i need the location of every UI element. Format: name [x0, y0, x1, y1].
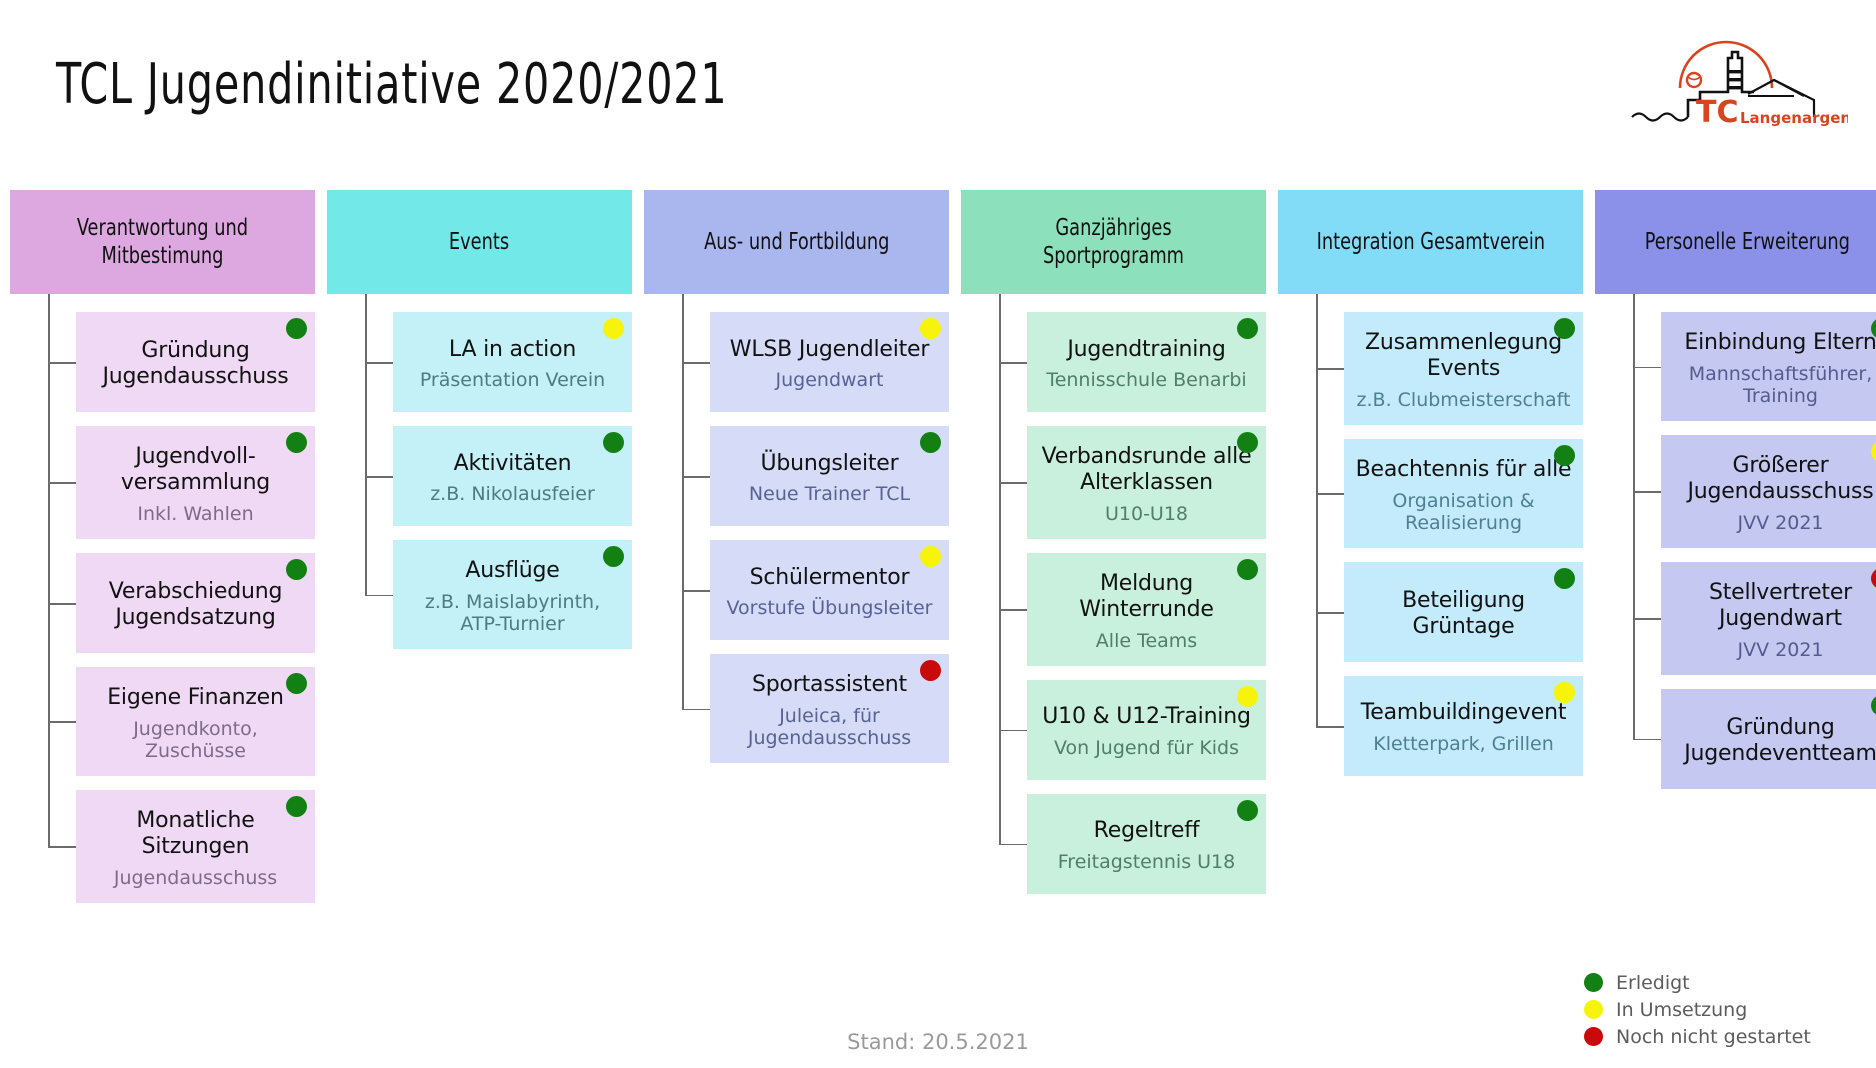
- column-header-label: Aus- und Fortbildung: [704, 228, 889, 256]
- card-subtitle: Kletterpark, Grillen: [1373, 733, 1554, 755]
- initiative-card[interactable]: SportassistentJuleica, für Jugendausschu…: [710, 654, 949, 763]
- connector-branch: [1316, 493, 1344, 495]
- column-cards-integration: Zusammenlegung Eventsz.B. Clubmeistersch…: [1344, 312, 1583, 776]
- status-dot-done-icon: [286, 318, 307, 339]
- initiative-card[interactable]: Gründung Jugendausschuss: [76, 312, 315, 412]
- column-header-ausbildung[interactable]: Aus- und Fortbildung: [644, 190, 949, 294]
- initiative-card[interactable]: LA in actionPräsentation Verein: [393, 312, 632, 412]
- initiative-card[interactable]: Ausflügez.B. Maislabyrinth, ATP-Turnier: [393, 540, 632, 649]
- column-header-personelle[interactable]: Personelle Erweiterung: [1595, 190, 1876, 294]
- connector-branch: [48, 603, 76, 605]
- connector-branch: [1316, 368, 1344, 370]
- club-logo: TC Langenargen e.V.: [1628, 18, 1848, 130]
- column-cards-sportprogramm: JugendtrainingTennisschule BenarbiVerban…: [1027, 312, 1266, 894]
- card-title: Beachtennis für alle: [1356, 457, 1572, 483]
- column-verantwortung: Verantwortung und MitbestimungGründung J…: [10, 190, 315, 903]
- initiative-card[interactable]: ÜbungsleiterNeue Trainer TCL: [710, 426, 949, 526]
- initiative-card[interactable]: Monatliche SitzungenJugendausschuss: [76, 790, 315, 903]
- column-cards-verantwortung: Gründung JugendausschussJugendvoll-versa…: [76, 312, 315, 903]
- footer-stand-date: Stand: 20.5.2021: [0, 1030, 1876, 1054]
- connector-branch: [1633, 491, 1661, 493]
- initiative-card[interactable]: RegeltreffFreitagstennis U18: [1027, 794, 1266, 894]
- card-title: U10 & U12-Training: [1042, 704, 1250, 730]
- status-dot-in_progress-icon: [1554, 682, 1575, 703]
- card-subtitle: Mannschaftsführer, Training: [1671, 363, 1876, 407]
- card-subtitle: z.B. Nikolausfeier: [430, 483, 595, 505]
- card-title: Übungsleiter: [761, 451, 899, 477]
- legend-label: Erledigt: [1616, 972, 1690, 994]
- column-header-sportprogramm[interactable]: Ganzjähriges Sportprogramm: [961, 190, 1266, 294]
- card-title: Eigene Finanzen: [107, 685, 284, 711]
- card-title: Gründung Jugendausschuss: [86, 338, 305, 390]
- card-subtitle: Von Jugend für Kids: [1054, 737, 1239, 759]
- status-dot-done-icon: [1554, 318, 1575, 339]
- column-sportprogramm: Ganzjähriges SportprogrammJugendtraining…: [961, 190, 1266, 894]
- status-dot-done-icon: [1554, 445, 1575, 466]
- status-dot-done-icon: [1237, 318, 1258, 339]
- card-subtitle: z.B. Maislabyrinth, ATP-Turnier: [403, 591, 622, 635]
- initiative-card[interactable]: Meldung WinterrundeAlle Teams: [1027, 553, 1266, 666]
- card-title: Gründung Jugendeventteam: [1671, 715, 1876, 767]
- connector-branch: [1633, 367, 1661, 369]
- initiative-card[interactable]: Gründung Jugendeventteam: [1661, 689, 1876, 789]
- card-subtitle: Jugendkonto, Zuschüsse: [86, 718, 305, 762]
- connector-trunk: [48, 294, 50, 846]
- initiative-card[interactable]: TeambuildingeventKletterpark, Grillen: [1344, 676, 1583, 776]
- initiative-card[interactable]: Einbindung ElternMannschaftsführer, Trai…: [1661, 312, 1876, 421]
- card-title: Beteiligung Grüntage: [1354, 588, 1573, 640]
- connector-branch: [48, 721, 76, 723]
- card-title: Jugendtraining: [1067, 337, 1225, 363]
- status-dot-done-icon: [1871, 695, 1876, 716]
- connector-branch: [999, 362, 1027, 364]
- status-dot-done-icon: [1237, 800, 1258, 821]
- legend-dot-in_progress-icon: [1584, 1000, 1603, 1019]
- status-dot-done-icon: [286, 796, 307, 817]
- initiative-card[interactable]: Zusammenlegung Eventsz.B. Clubmeistersch…: [1344, 312, 1583, 425]
- connector-trunk: [1316, 294, 1318, 726]
- connector-branch: [1316, 612, 1344, 614]
- page-header: TCL Jugendinitiative 2020/2021 TC Langen…: [0, 0, 1876, 190]
- card-subtitle: Vorstufe Übungsleiter: [727, 597, 933, 619]
- card-title: Ausflüge: [465, 558, 559, 584]
- card-title: Teambuildingevent: [1361, 700, 1567, 726]
- initiative-card[interactable]: Größerer JugendausschussJVV 2021: [1661, 435, 1876, 548]
- card-subtitle: Juleica, für Jugendausschuss: [720, 705, 939, 749]
- card-title: WLSB Jugendleiter: [730, 337, 929, 363]
- status-dot-in_progress-icon: [920, 318, 941, 339]
- status-dot-done-icon: [1237, 432, 1258, 453]
- card-title: Größerer Jugendausschuss: [1671, 453, 1876, 505]
- connector-branch: [365, 595, 393, 597]
- status-dot-not_started-icon: [920, 660, 941, 681]
- card-subtitle: Organisation & Realisierung: [1354, 490, 1573, 534]
- column-header-verantwortung[interactable]: Verantwortung und Mitbestimung: [10, 190, 315, 294]
- connector-branch: [1633, 618, 1661, 620]
- column-header-label: Events: [449, 228, 509, 256]
- card-title: Monatliche Sitzungen: [86, 808, 305, 860]
- connector-trunk: [682, 294, 684, 709]
- column-events: EventsLA in actionPräsentation VereinAkt…: [327, 190, 632, 649]
- initiative-card[interactable]: Stellvertreter JugendwartJVV 2021: [1661, 562, 1876, 675]
- card-subtitle: Alle Teams: [1096, 630, 1197, 652]
- card-title: Stellvertreter Jugendwart: [1671, 580, 1876, 632]
- card-subtitle: z.B. Clubmeisterschaft: [1357, 389, 1571, 411]
- connector-branch: [1633, 739, 1661, 741]
- card-subtitle: JVV 2021: [1738, 512, 1824, 534]
- status-dot-in_progress-icon: [603, 318, 624, 339]
- column-cards-events: LA in actionPräsentation VereinAktivität…: [393, 312, 632, 649]
- card-subtitle: U10-U18: [1105, 503, 1188, 525]
- column-header-label: Integration Gesamtverein: [1316, 228, 1544, 256]
- connector-branch: [999, 730, 1027, 732]
- connector-branch: [682, 362, 710, 364]
- connector-branch: [48, 846, 76, 848]
- legend-item-in_progress: In Umsetzung: [1584, 996, 1834, 1023]
- status-dot-done-icon: [286, 432, 307, 453]
- club-logo-graphic: TC Langenargen e.V.: [1628, 18, 1848, 130]
- initiative-card[interactable]: WLSB JugendleiterJugendwart: [710, 312, 949, 412]
- initiative-card[interactable]: Beteiligung Grüntage: [1344, 562, 1583, 662]
- connector-trunk: [1633, 294, 1635, 739]
- card-subtitle: Präsentation Verein: [420, 369, 605, 391]
- status-dot-done-icon: [1237, 559, 1258, 580]
- column-cards-personelle: Einbindung ElternMannschaftsführer, Trai…: [1661, 312, 1876, 789]
- initiative-card[interactable]: Eigene FinanzenJugendkonto, Zuschüsse: [76, 667, 315, 776]
- connector-trunk: [365, 294, 367, 595]
- initiative-card[interactable]: SchülermentorVorstufe Übungsleiter: [710, 540, 949, 640]
- logo-club-name-text: Langenargen e.V.: [1740, 109, 1848, 127]
- card-subtitle: Jugendausschuss: [114, 867, 277, 889]
- connector-branch: [682, 590, 710, 592]
- connector-branch: [365, 476, 393, 478]
- connector-branch: [48, 362, 76, 364]
- page-title: TCL Jugendinitiative 2020/2021: [56, 52, 728, 117]
- initiative-card[interactable]: U10 & U12-TrainingVon Jugend für Kids: [1027, 680, 1266, 780]
- card-title: Aktivitäten: [454, 451, 572, 477]
- initiative-card[interactable]: Verabschiedung Jugendsatzung: [76, 553, 315, 653]
- logo-tc-text: TC: [1696, 95, 1738, 130]
- column-header-label: Ganzjähriges Sportprogramm: [991, 214, 1236, 270]
- connector-trunk: [999, 294, 1001, 844]
- initiative-card[interactable]: Verbandsrunde alle AlterklassenU10-U18: [1027, 426, 1266, 539]
- initiative-card[interactable]: Jugendvoll-versammlungInkl. Wahlen: [76, 426, 315, 539]
- connector-branch: [365, 362, 393, 364]
- initiative-card[interactable]: Beachtennis für alleOrganisation & Reali…: [1344, 439, 1583, 548]
- card-title: LA in action: [449, 337, 576, 363]
- column-personelle: Personelle ErweiterungEinbindung ElternM…: [1595, 190, 1876, 789]
- legend-dot-done-icon: [1584, 973, 1603, 992]
- initiative-board: Verantwortung und MitbestimungGründung J…: [0, 190, 1876, 1030]
- card-title: Schülermentor: [750, 565, 910, 591]
- card-subtitle: Inkl. Wahlen: [137, 503, 253, 525]
- card-subtitle: Neue Trainer TCL: [749, 483, 910, 505]
- connector-branch: [999, 609, 1027, 611]
- card-title: Verabschiedung Jugendsatzung: [86, 579, 305, 631]
- card-title: Regeltreff: [1094, 818, 1200, 844]
- connector-branch: [999, 482, 1027, 484]
- column-header-integration[interactable]: Integration Gesamtverein: [1278, 190, 1583, 294]
- card-title: Verbandsrunde alle Alterklassen: [1037, 444, 1256, 496]
- status-dot-in_progress-icon: [920, 546, 941, 567]
- column-header-label: Verantwortung und Mitbestimung: [40, 214, 285, 270]
- column-integration: Integration GesamtvereinZusammenlegung E…: [1278, 190, 1583, 776]
- card-title: Meldung Winterrunde: [1037, 571, 1256, 623]
- status-dot-done-icon: [286, 559, 307, 580]
- connector-branch: [48, 482, 76, 484]
- card-subtitle: Freitagstennis U18: [1058, 851, 1236, 873]
- status-dot-done-icon: [286, 673, 307, 694]
- column-header-events[interactable]: Events: [327, 190, 632, 294]
- legend-item-done: Erledigt: [1584, 969, 1834, 996]
- status-dot-done-icon: [603, 546, 624, 567]
- connector-branch: [1316, 726, 1344, 728]
- column-header-label: Personelle Erweiterung: [1645, 228, 1850, 256]
- initiative-card[interactable]: JugendtrainingTennisschule Benarbi: [1027, 312, 1266, 412]
- status-dot-done-icon: [1554, 568, 1575, 589]
- connector-branch: [682, 476, 710, 478]
- card-subtitle: JVV 2021: [1738, 639, 1824, 661]
- card-title: Einbindung Eltern: [1684, 330, 1876, 356]
- card-subtitle: Jugendwart: [776, 369, 884, 391]
- card-title: Zusammenlegung Events: [1354, 330, 1573, 382]
- card-title: Jugendvoll-versammlung: [86, 444, 305, 496]
- status-dot-in_progress-icon: [1237, 686, 1258, 707]
- connector-branch: [999, 844, 1027, 846]
- card-subtitle: Tennisschule Benarbi: [1046, 369, 1246, 391]
- column-ausbildung: Aus- und FortbildungWLSB JugendleiterJug…: [644, 190, 949, 763]
- initiative-card[interactable]: Aktivitätenz.B. Nikolausfeier: [393, 426, 632, 526]
- card-title: Sportassistent: [752, 672, 907, 698]
- legend-label: In Umsetzung: [1616, 999, 1747, 1021]
- status-dot-done-icon: [603, 432, 624, 453]
- column-cards-ausbildung: WLSB JugendleiterJugendwartÜbungsleiterN…: [710, 312, 949, 763]
- status-dot-done-icon: [920, 432, 941, 453]
- connector-branch: [682, 709, 710, 711]
